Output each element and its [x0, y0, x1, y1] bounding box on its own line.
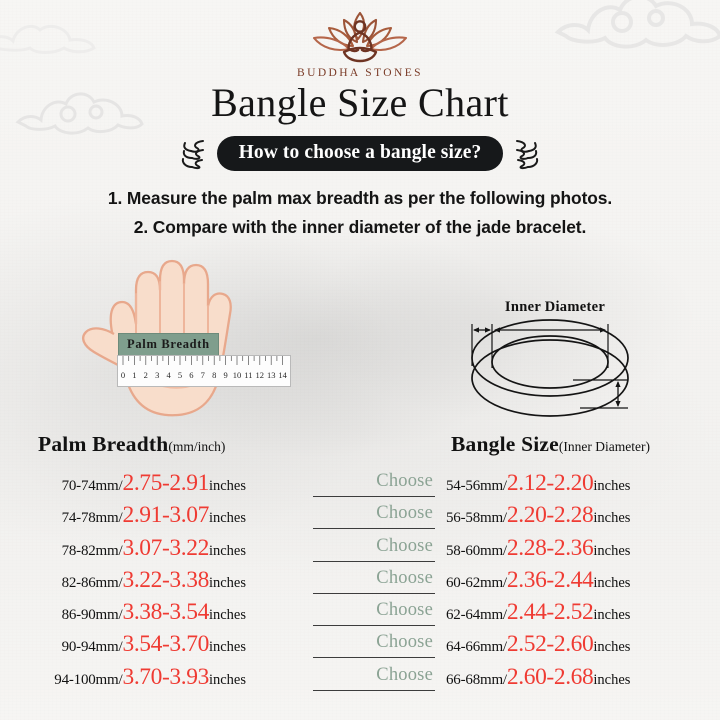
choose-field[interactable]: Choose [313, 472, 435, 497]
palm-breadth-header-sub: (mm/inch) [168, 439, 225, 454]
palm-breadth-unit: inches [209, 672, 246, 688]
bangle-size-mm: 64-66mm/ [446, 639, 507, 655]
palm-breadth-mm: 70-74mm/ [62, 478, 123, 494]
choose-field[interactable]: Choose [313, 666, 435, 691]
choose-label[interactable]: Choose [376, 536, 433, 557]
palm-breadth-inch: 3.38-3.54 [122, 599, 208, 625]
ruler-number: 13 [267, 370, 276, 380]
palm-breadth-inch: 3.07-3.22 [122, 535, 208, 561]
ruler-number: 10 [233, 370, 242, 380]
brand-name: BUDDHA STONES [0, 67, 720, 79]
bangle-size-unit: inches [593, 639, 630, 655]
page-title: Bangle Size Chart [0, 79, 720, 126]
table-row: 94-100mm/3.70-3.93inchesChoose66-68mm/2.… [0, 664, 720, 696]
lotus-meditation-icon [306, 8, 414, 66]
bangle-size-inch: 2.28-2.36 [507, 535, 593, 561]
instruction-line-2: 2. Compare with the inner diameter of th… [0, 217, 720, 238]
bangle-size-inch: 2.60-2.68 [507, 664, 593, 690]
bangle-size-mm: 62-64mm/ [446, 607, 507, 623]
table-row: 78-82mm/3.07-3.22inchesChoose58-60mm/2.2… [0, 535, 720, 567]
ruler-number: 3 [155, 370, 159, 380]
palm-breadth-mm: 74-78mm/ [62, 510, 123, 526]
choose-label[interactable]: Choose [376, 600, 433, 621]
bangle-size-unit: inches [593, 510, 630, 526]
palm-breadth-inch: 3.22-3.38 [122, 567, 208, 593]
bangle-size-value: 66-68mm/2.60-2.68inches [446, 664, 630, 691]
palm-breadth-mm: 90-94mm/ [62, 639, 123, 655]
bangle-size-unit: inches [593, 575, 630, 591]
ruler-number: 6 [189, 370, 193, 380]
subtitle-pill: How to choose a bangle size? [217, 136, 504, 171]
bangle-size-value: 62-64mm/2.44-2.52inches [446, 599, 630, 626]
bangle-size-inch: 2.44-2.52 [507, 599, 593, 625]
flourish-ornament-icon [513, 137, 543, 171]
palm-breadth-unit: inches [209, 478, 246, 494]
choose-field[interactable]: Choose [313, 633, 435, 658]
bangle-size-value: 56-58mm/2.20-2.28inches [446, 502, 630, 529]
palm-breadth-unit: inches [209, 575, 246, 591]
choose-field[interactable]: Choose [313, 504, 435, 529]
ruler-number: 2 [144, 370, 148, 380]
flourish-ornament-icon [177, 137, 207, 171]
table-row: 70-74mm/2.75-2.91inchesChoose54-56mm/2.1… [0, 470, 720, 502]
bangle-size-chart-page: BUDDHA STONES Bangle Size Chart How to c… [0, 0, 720, 720]
instruction-line-1: 1. Measure the palm max breadth as per t… [0, 188, 720, 209]
ruler-number: 12 [256, 370, 265, 380]
brand-logo: BUDDHA STONES [0, 8, 720, 79]
ruler-number: 14 [278, 370, 287, 380]
bangle-size-header-sub: (Inner Diameter) [559, 439, 650, 454]
subtitle-row: How to choose a bangle size? [0, 136, 720, 171]
bangle-size-inch: 2.52-2.60 [507, 631, 593, 657]
bangle-size-unit: inches [593, 543, 630, 559]
bangle-size-mm: 54-56mm/ [446, 478, 507, 494]
ruler-number: 11 [244, 370, 252, 380]
choose-label[interactable]: Choose [376, 568, 433, 589]
bangle-size-mm: 66-68mm/ [446, 672, 507, 688]
palm-breadth-label: Palm Breadth [118, 333, 219, 357]
table-row: 86-90mm/3.38-3.54inchesChoose62-64mm/2.4… [0, 599, 720, 631]
choose-label[interactable]: Choose [376, 503, 433, 524]
palm-breadth-inch: 2.91-3.07 [122, 502, 208, 528]
palm-breadth-value: 86-90mm/3.38-3.54inches [62, 599, 246, 626]
bangle-size-unit: inches [593, 672, 630, 688]
bangle-ring-icon [455, 296, 655, 424]
bangle-size-header-main: Bangle Size [451, 432, 559, 456]
bangle-size-inch: 2.12-2.20 [507, 470, 593, 496]
bangle-size-value: 60-62mm/2.36-2.44inches [446, 567, 630, 594]
palm-breadth-header: Palm Breadth(mm/inch) [38, 432, 225, 457]
ruler-number: 8 [212, 370, 216, 380]
palm-breadth-value: 74-78mm/2.91-3.07inches [62, 502, 246, 529]
bangle-size-value: 54-56mm/2.12-2.20inches [446, 470, 630, 497]
choose-field[interactable]: Choose [313, 537, 435, 562]
palm-breadth-header-main: Palm Breadth [38, 432, 168, 456]
bangle-size-mm: 56-58mm/ [446, 510, 507, 526]
ruler-number: 1 [132, 370, 136, 380]
ruler-ticks [118, 356, 290, 367]
choose-label[interactable]: Choose [376, 632, 433, 653]
palm-breadth-value: 82-86mm/3.22-3.38inches [62, 567, 246, 594]
choose-label[interactable]: Choose [376, 471, 433, 492]
bangle-size-unit: inches [593, 607, 630, 623]
choose-label[interactable]: Choose [376, 665, 433, 686]
palm-breadth-mm: 86-90mm/ [62, 607, 123, 623]
palm-breadth-mm: 94-100mm/ [54, 672, 122, 688]
palm-breadth-value: 78-82mm/3.07-3.22inches [62, 535, 246, 562]
palm-breadth-mm: 78-82mm/ [62, 543, 123, 559]
palm-breadth-unit: inches [209, 510, 246, 526]
bangle-size-inch: 2.36-2.44 [507, 567, 593, 593]
bangle-size-value: 64-66mm/2.52-2.60inches [446, 631, 630, 658]
palm-breadth-value: 70-74mm/2.75-2.91inches [62, 470, 246, 497]
palm-breadth-unit: inches [209, 543, 246, 559]
choose-field[interactable]: Choose [313, 569, 435, 594]
ruler-number: 0 [121, 370, 125, 380]
palm-breadth-inch: 3.70-3.93 [122, 664, 208, 690]
palm-breadth-inch: 3.54-3.70 [122, 631, 208, 657]
ruler-number: 5 [178, 370, 182, 380]
bangle-size-mm: 58-60mm/ [446, 543, 507, 559]
choose-field[interactable]: Choose [313, 601, 435, 626]
table-row: 82-86mm/3.22-3.38inchesChoose60-62mm/2.3… [0, 567, 720, 599]
palm-breadth-unit: inches [209, 607, 246, 623]
palm-breadth-inch: 2.75-2.91 [122, 470, 208, 496]
bangle-size-mm: 60-62mm/ [446, 575, 507, 591]
bangle-size-value: 58-60mm/2.28-2.36inches [446, 535, 630, 562]
ruler-numbers: 01234567891011121314 [118, 367, 290, 386]
bangle-size-inch: 2.20-2.28 [507, 502, 593, 528]
palm-breadth-value: 94-100mm/3.70-3.93inches [54, 664, 246, 691]
ruler-number: 7 [201, 370, 205, 380]
size-table: 70-74mm/2.75-2.91inchesChoose54-56mm/2.1… [0, 470, 720, 696]
ruler-number: 4 [166, 370, 170, 380]
table-headers: Palm Breadth(mm/inch) Bangle Size(Inner … [0, 432, 720, 460]
palm-breadth-value: 90-94mm/3.54-3.70inches [62, 631, 246, 658]
palm-breadth-mm: 82-86mm/ [62, 575, 123, 591]
bangle-size-unit: inches [593, 478, 630, 494]
table-row: 74-78mm/2.91-3.07inchesChoose56-58mm/2.2… [0, 502, 720, 534]
ruler-graphic: 01234567891011121314 [117, 355, 291, 387]
ruler-number: 9 [223, 370, 227, 380]
bangle-size-header: Bangle Size(Inner Diameter) [451, 432, 650, 457]
palm-breadth-unit: inches [209, 639, 246, 655]
table-row: 90-94mm/3.54-3.70inchesChoose64-66mm/2.5… [0, 631, 720, 663]
